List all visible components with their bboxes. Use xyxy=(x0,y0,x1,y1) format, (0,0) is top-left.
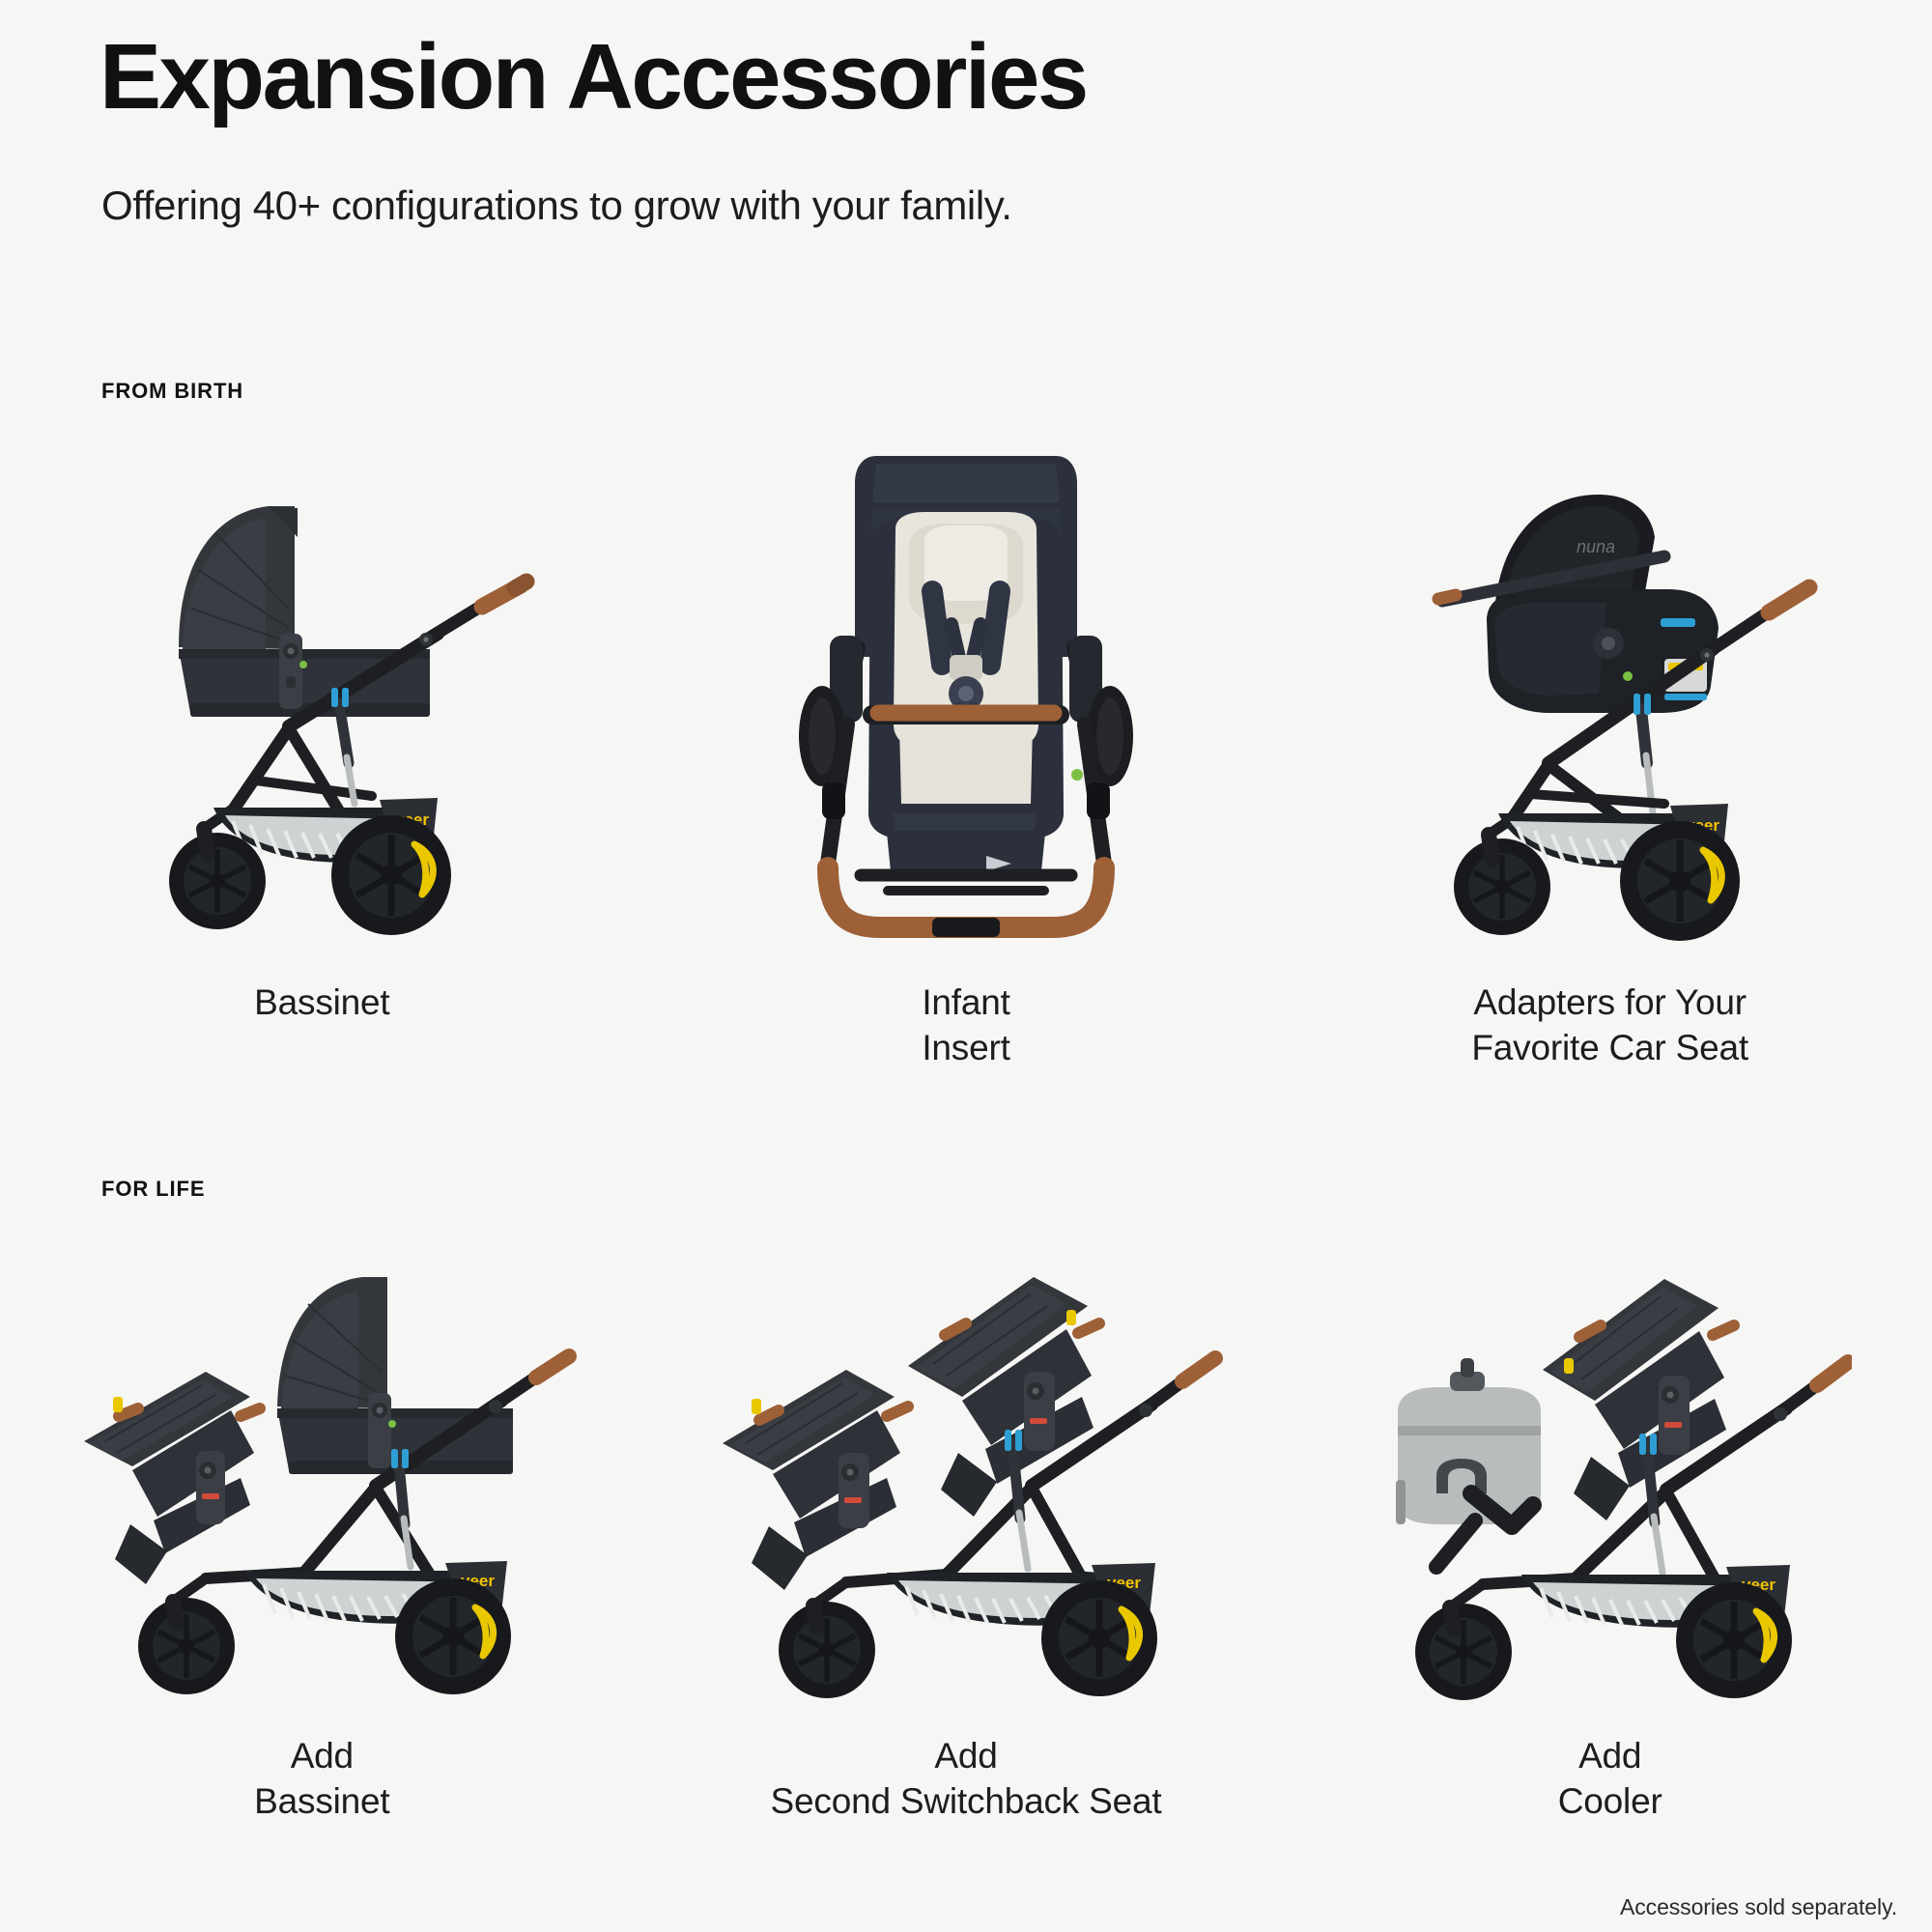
product-caption: Adapters for Your Favorite Car Seat xyxy=(1471,980,1748,1071)
rear-wheel xyxy=(1676,1582,1792,1698)
product-caption: Add Second Switchback Seat xyxy=(771,1733,1162,1825)
rear-wheel xyxy=(331,815,451,935)
section-label-for-life: FOR LIFE xyxy=(101,1177,205,1202)
rear-wheel xyxy=(1620,821,1740,941)
product-cell-bassinet[interactable]: veer xyxy=(0,425,644,1159)
car-seat-adapter-image: nuna xyxy=(1288,425,1932,966)
stroller-car-seat-illustration: nuna xyxy=(1378,444,1842,947)
product-caption: Add Cooler xyxy=(1558,1733,1662,1825)
product-cell-add-cooler[interactable]: veer xyxy=(1288,1225,1932,1930)
for-life-product-row: veer xyxy=(0,1225,1932,1930)
product-caption: Infant Insert xyxy=(922,980,1009,1071)
page-title: Expansion Accessories xyxy=(99,29,1087,127)
expansion-accessories-page: Expansion Accessories Offering 40+ confi… xyxy=(0,0,1932,1932)
product-caption: Bassinet xyxy=(254,980,389,1025)
rear-wheel xyxy=(1041,1580,1157,1696)
rear-wheel xyxy=(395,1578,511,1694)
stroller-bassinet-illustration: veer xyxy=(90,444,554,947)
stroller-double-seat-illustration: veer xyxy=(705,1235,1227,1718)
product-cell-car-seat-adapters[interactable]: nuna xyxy=(1288,425,1932,1159)
footnote-accessories-sold-separately: Accessories sold separately. xyxy=(1620,1894,1897,1920)
stroller-double-bassinet-illustration: veer xyxy=(61,1235,582,1718)
add-cooler-image: veer xyxy=(1288,1225,1932,1727)
add-bassinet-image: veer xyxy=(0,1225,644,1727)
product-cell-add-bassinet[interactable]: veer xyxy=(0,1225,644,1930)
from-birth-product-row: veer xyxy=(0,425,1932,1159)
add-second-seat-image: veer xyxy=(644,1225,1289,1727)
stroller-infant-insert-illustration xyxy=(787,435,1145,956)
product-cell-add-second-seat[interactable]: veer xyxy=(644,1225,1289,1930)
front-wheel xyxy=(1454,838,1550,935)
front-wheel xyxy=(138,1598,235,1694)
front-wheel xyxy=(169,833,266,929)
stroller-cooler-illustration: veer xyxy=(1369,1235,1852,1718)
bassinet-image: veer xyxy=(0,425,644,966)
page-subtitle: Offering 40+ configurations to grow with… xyxy=(101,179,1012,233)
nuna-logo-text: nuna xyxy=(1577,537,1615,556)
product-caption: Add Bassinet xyxy=(254,1733,389,1825)
product-cell-infant-insert[interactable]: Infant Insert xyxy=(644,425,1289,1159)
front-wheel xyxy=(1415,1604,1512,1700)
front-wheel xyxy=(779,1602,875,1698)
infant-insert-image xyxy=(644,425,1289,966)
section-label-from-birth: FROM BIRTH xyxy=(101,379,243,404)
